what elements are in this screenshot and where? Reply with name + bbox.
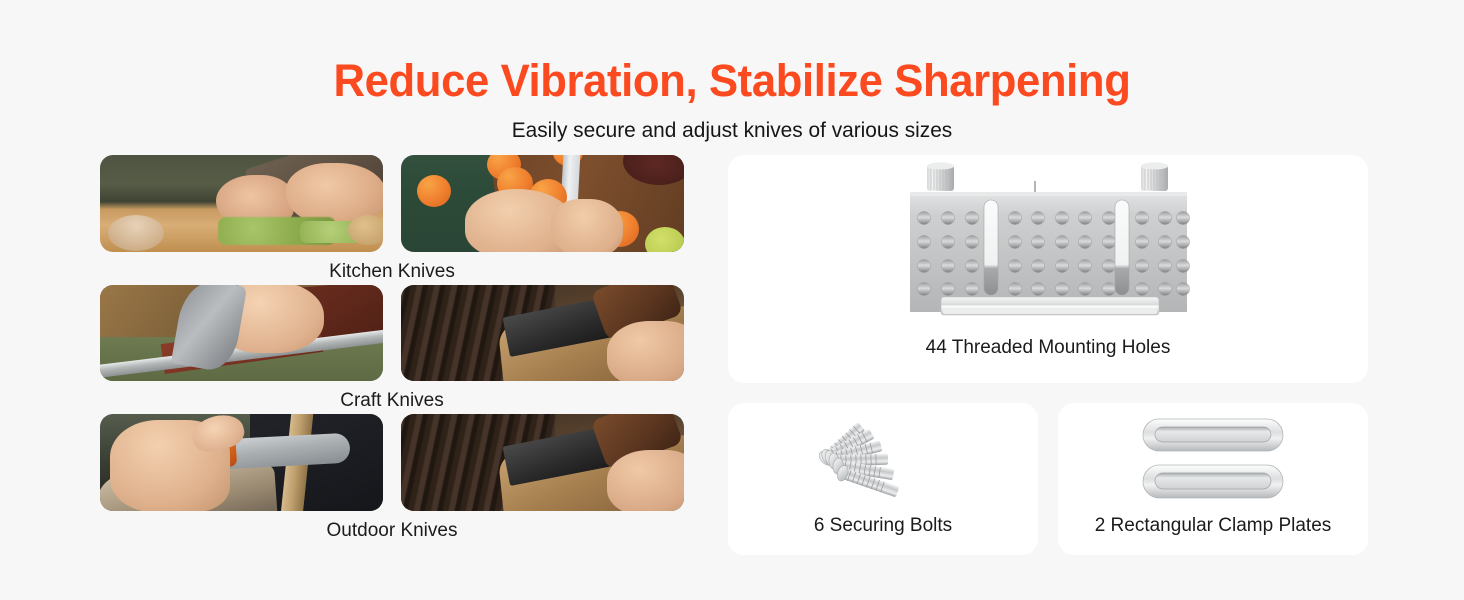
leather-cutting-photo bbox=[100, 285, 383, 381]
securing-bolts-image bbox=[728, 403, 1038, 515]
photo-cell bbox=[100, 155, 383, 252]
photo-row-craft bbox=[100, 285, 684, 381]
card-caption-securing-bolts: 6 Securing Bolts bbox=[728, 513, 1038, 539]
photo-cell bbox=[401, 155, 684, 252]
photo-cell bbox=[100, 285, 383, 381]
card-securing-bolts: 6 Securing Bolts bbox=[728, 403, 1038, 555]
header: Reduce Vibration, Stabilize Sharpening E… bbox=[0, 0, 1464, 145]
product-cards-bottom-row: 6 Securing Bolts bbox=[728, 403, 1368, 555]
card-mounting-plate: 44 Threaded Mounting Holes bbox=[728, 155, 1368, 383]
photo-cell bbox=[401, 285, 684, 381]
photo-cell bbox=[401, 414, 684, 511]
clamp-plates-image bbox=[1058, 403, 1368, 515]
main-content: Kitchen Knives bbox=[0, 155, 1464, 575]
page-subtitle: Easily secure and adjust knives of vario… bbox=[22, 115, 1442, 145]
product-cards: 44 Threaded Mounting Holes bbox=[728, 155, 1368, 555]
apricot-slicing-photo bbox=[401, 155, 684, 252]
photo-row-kitchen bbox=[100, 155, 684, 252]
mounting-plate-image bbox=[728, 155, 1368, 333]
bushcraft-knife-photo bbox=[401, 285, 684, 381]
kitchen-knife-photo bbox=[100, 155, 383, 252]
photo-row-label-kitchen: Kitchen Knives bbox=[100, 252, 684, 285]
photo-row-outdoor bbox=[100, 414, 684, 511]
outdoor-carving-photo bbox=[100, 414, 383, 511]
page-title: Reduce Vibration, Stabilize Sharpening bbox=[22, 52, 1442, 110]
folding-knife-photo bbox=[401, 414, 684, 511]
card-clamp-plates: 2 Rectangular Clamp Plates bbox=[1058, 403, 1368, 555]
card-caption-mounting-plate: 44 Threaded Mounting Holes bbox=[728, 335, 1368, 361]
photo-row-label-craft: Craft Knives bbox=[100, 381, 684, 414]
use-case-photo-grid: Kitchen Knives bbox=[100, 155, 684, 544]
card-caption-clamp-plates: 2 Rectangular Clamp Plates bbox=[1058, 513, 1368, 539]
photo-row-label-outdoor: Outdoor Knives bbox=[100, 511, 684, 544]
photo-cell bbox=[100, 414, 383, 511]
